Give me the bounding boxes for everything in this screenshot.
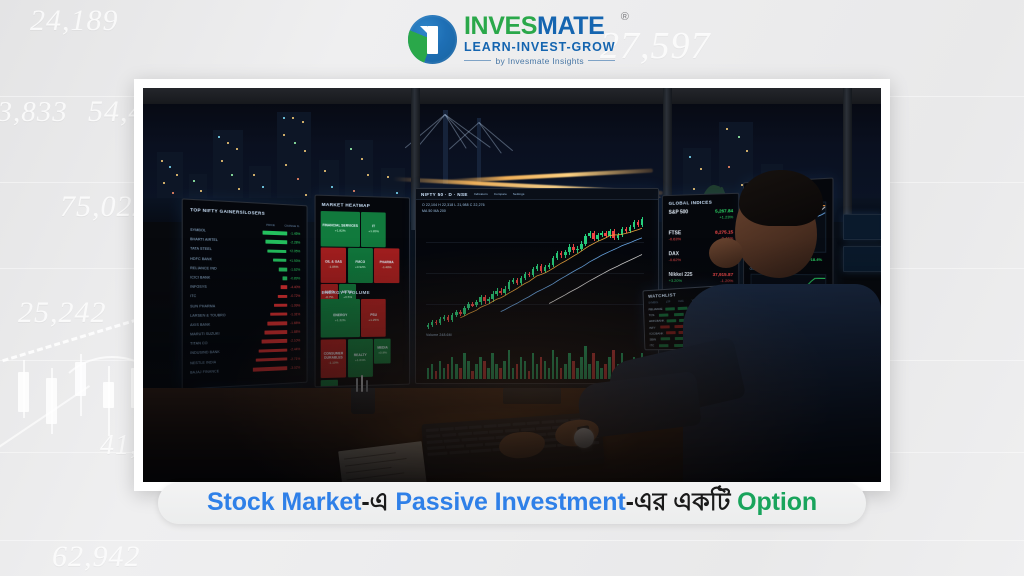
gainers-change-pct: -0.72% xyxy=(290,294,300,298)
caption-banner: Stock Market-এ Passive Investment-এর একট… xyxy=(158,482,866,524)
heatmap-grid-energy[interactable]: ENERGY+1.32%PSU+1.25%CONSUMER DURABLES-1… xyxy=(321,299,405,380)
gainers-symbol: ITC xyxy=(190,294,196,298)
logo-rule-left xyxy=(464,60,491,61)
volume-bar xyxy=(495,364,498,379)
gainers-change-pct: -2.10% xyxy=(290,339,300,343)
heatmap-tile-value: +0.8% xyxy=(378,351,387,355)
global-index-change: -1.20% xyxy=(720,278,733,283)
bridge-cable xyxy=(445,114,478,148)
chart-toolbar-settings[interactable]: Settings xyxy=(513,192,525,196)
volume-bar xyxy=(471,371,474,379)
gainers-change-bar xyxy=(256,357,287,362)
heatmap-tile[interactable]: FINANCIAL SERVICES+1.82% xyxy=(321,211,360,247)
watchlist-value-cell xyxy=(667,319,677,322)
heatmap-tile[interactable]: FMCG+0.92% xyxy=(348,248,373,283)
gainers-symbol: ICICI BANK xyxy=(190,275,210,279)
volume-bar xyxy=(564,364,567,379)
gainers-symbol: HDFC BANK xyxy=(190,256,212,261)
gainers-symbol: RELIANCE IND xyxy=(190,266,217,271)
gainers-change-pct: -3.02% xyxy=(290,365,300,369)
watchlist-value-cell xyxy=(665,307,675,310)
gainers-symbol: BHARTI AIRTEL xyxy=(190,237,218,242)
volume-bar xyxy=(572,361,575,379)
heatmap-tile-value: -1.40% xyxy=(382,265,392,269)
global-index-row[interactable]: Nikkei 22537,915.87+3.20%-1.20% xyxy=(669,272,734,283)
monitor-top-gainers-losers[interactable]: TOP NIFTY GAINERS/LOSERS PRICE CHANGE % … xyxy=(182,198,308,389)
watermark-gridline xyxy=(0,540,1024,541)
volume-bar xyxy=(524,361,527,379)
volume-bar xyxy=(491,353,494,379)
volume-bar xyxy=(503,361,506,379)
desk-speaker-device xyxy=(503,388,561,404)
gainers-change-bar xyxy=(274,303,287,307)
gainers-row[interactable]: HDFC BANK+1.93% xyxy=(190,256,300,262)
volume-bar xyxy=(584,346,587,379)
registered-mark-icon: ® xyxy=(621,12,629,23)
global-index-side-change: -0.63% xyxy=(669,236,681,241)
heatmap-tile[interactable]: PSU+1.25% xyxy=(361,299,386,337)
volume-bar xyxy=(516,364,519,379)
chart-gridline xyxy=(426,304,644,305)
gainers-change-pct: -2.71% xyxy=(290,357,300,361)
logo-rule-right xyxy=(588,60,615,61)
gainers-change-bar xyxy=(273,258,286,262)
bridge-tower xyxy=(443,110,448,184)
watermark-trend-line xyxy=(0,385,90,454)
gainers-change-pct: +1.93% xyxy=(289,259,300,263)
watermark-candle xyxy=(103,382,114,408)
watchlist-value-cell xyxy=(666,331,676,334)
heatmap-tile-value: +1.82% xyxy=(335,229,346,233)
volume-bar xyxy=(592,353,595,379)
global-index-name: S&P 500 xyxy=(669,209,688,215)
volume-bar xyxy=(487,368,490,379)
panel-title-gainers: TOP NIFTY GAINERS/LOSERS xyxy=(190,207,265,216)
gainers-symbol: MARUTI SUZUKI xyxy=(190,332,219,337)
volume-bar xyxy=(459,368,462,379)
gainers-change-pct: -1.62% xyxy=(290,267,300,271)
volume-bar xyxy=(475,364,478,379)
volume-bar xyxy=(536,364,539,379)
volume-bar xyxy=(556,357,559,379)
logo-wordmark: INVESMATE ® LEARN-INVEST-GROW by Invesma… xyxy=(464,14,627,65)
pen xyxy=(356,378,358,392)
gainers-change-pct: -2.28% xyxy=(290,241,300,245)
volume-bar xyxy=(532,353,535,379)
chart-toolbar-indicators[interactable]: Indicators xyxy=(474,192,488,196)
volume-bar xyxy=(435,371,438,379)
chart-volume-label: Volume 248.6M xyxy=(426,333,452,337)
watchlist-value-cell xyxy=(659,313,668,316)
gainers-symbol: TITAN CO xyxy=(190,341,208,346)
heatmap-grid-sectors[interactable]: FINANCIAL SERVICES+1.82%IT+1.20%OIL & GA… xyxy=(321,211,405,284)
gainers-change-bar xyxy=(279,267,287,271)
watchlist-value-cell xyxy=(660,325,670,328)
gainers-row[interactable]: BHARTI AIRTEL-2.28% xyxy=(190,237,300,245)
watermark-number: 73,833 xyxy=(0,96,68,129)
heatmap-tile-value: +1.01% xyxy=(355,358,366,362)
gainers-change-pct: -0.89% xyxy=(290,276,300,280)
monitor-price-chart[interactable]: NIFTY 50 · D · NSE Indicators Compare Se… xyxy=(415,188,659,384)
gainers-change-bar xyxy=(259,348,288,353)
gainers-row[interactable]: SUN PHARMA-1.09% xyxy=(190,303,300,308)
volume-bar xyxy=(451,357,454,379)
gainers-row[interactable]: INFOSYS-4.40% xyxy=(190,285,300,289)
bridge-tower xyxy=(477,118,481,184)
heatmap-tile[interactable]: MEDIA+0.8% xyxy=(374,338,391,363)
heatmap-tile-value: -1.10% xyxy=(329,360,339,364)
gainers-row-list: SYMBOL-1.45%BHARTI AIRTEL-2.28%TATA STEE… xyxy=(190,228,300,380)
gainers-row[interactable]: BAJAJ FINANCE-3.02% xyxy=(190,365,300,374)
volume-bar xyxy=(540,357,543,379)
caption-segment-1: Stock Market xyxy=(207,488,361,516)
watermark-candle xyxy=(18,372,29,412)
gainers-row[interactable]: LARSEN & TOUBRO-1.31% xyxy=(190,312,300,317)
gainers-row[interactable]: ITC-0.72% xyxy=(190,294,300,298)
volume-bar xyxy=(604,364,607,379)
watermark-number: 24,189 xyxy=(30,4,119,38)
heatmap-tile[interactable]: OIL & GAS-1.05% xyxy=(321,247,347,282)
watermark-number: 25,242 xyxy=(18,296,107,330)
chart-gridline xyxy=(426,273,644,274)
gainers-change-bar xyxy=(266,240,288,244)
caption-text: Stock Market-এ Passive Investment-এর একট… xyxy=(207,482,817,525)
volume-bar xyxy=(463,353,466,379)
watchlist-value-cell xyxy=(661,338,671,341)
watchlist-col-header: CHG xyxy=(678,300,684,303)
gainers-change-bar xyxy=(281,286,288,290)
heatmap-tile-value: +1.20% xyxy=(368,229,378,233)
volume-bar xyxy=(552,350,555,379)
watchlist-col-header: LTP xyxy=(666,301,670,304)
gainers-change-pct: +2.05% xyxy=(289,250,300,254)
gainers-row[interactable]: ICICI BANK-0.89% xyxy=(190,275,300,280)
heatmap-tile-value: +1.25% xyxy=(368,318,378,322)
watermark-candle-wick xyxy=(108,366,110,436)
watermark-number: 62,942 xyxy=(52,540,141,574)
logo-title-part1: INVES xyxy=(464,12,537,40)
gainers-change-bar xyxy=(270,312,287,316)
col-header-price: PRICE xyxy=(266,223,275,227)
chart-ma-legend: MA 50 MA 200 xyxy=(422,209,446,213)
heatmap-tile[interactable]: IT+1.20% xyxy=(361,212,386,247)
watchlist-symbol: INFY xyxy=(649,325,655,329)
highway-light-trail xyxy=(443,169,653,184)
gainers-change-pct: -1.45% xyxy=(290,232,300,236)
chart-gridline xyxy=(426,242,644,243)
logo-byline: by Invesmate Insights xyxy=(495,57,584,66)
global-index-side-change: +3.20% xyxy=(669,278,682,283)
gainers-symbol: SYMBOL xyxy=(190,228,206,233)
gainers-row[interactable]: SYMBOL-1.45% xyxy=(190,228,300,236)
volume-bar xyxy=(548,368,551,379)
watchlist-symbol: SBIN xyxy=(650,337,657,341)
volume-bar xyxy=(596,361,599,379)
gainers-change-bar xyxy=(283,277,288,281)
gainers-change-pct: -1.09% xyxy=(290,303,300,307)
volume-bar xyxy=(439,361,442,379)
heatmap-tile-value: +0.92% xyxy=(355,265,366,269)
logo-pillar-shape xyxy=(427,26,438,54)
watchlist-symbol: LT xyxy=(650,350,653,351)
watchlist-col-header: SYMBOL xyxy=(648,301,658,304)
pen-holder xyxy=(351,388,375,414)
watermark-candle xyxy=(46,378,57,424)
global-index-value: 37,915.87 xyxy=(713,272,734,277)
volume-bar xyxy=(576,368,579,379)
volume-bar xyxy=(580,357,583,379)
volume-bar xyxy=(483,361,486,379)
gainers-change-pct: -1.88% xyxy=(290,330,300,334)
hero-photo: TOP NIFTY GAINERS/LOSERS PRICE CHANGE % … xyxy=(143,88,881,482)
watermark-candle-wick xyxy=(80,354,82,416)
pen xyxy=(366,380,368,392)
volume-bar xyxy=(528,371,531,379)
heatmap-tile[interactable]: CONSUMER DURABLES-1.10% xyxy=(321,339,347,378)
heatmap-tile-value: -1.05% xyxy=(329,265,339,269)
watchlist-symbol: RELIANCE xyxy=(649,307,663,312)
watermark-trend-dashed xyxy=(0,318,138,365)
gainers-change-bar xyxy=(262,339,288,343)
volume-bar xyxy=(520,357,523,379)
volume-bar xyxy=(427,368,430,379)
panel-title-energy-volume: ENERGY / VOLUME xyxy=(322,290,370,295)
gainers-row[interactable]: MARUTI SUZUKI-1.88% xyxy=(190,330,300,337)
logo-title: INVESMATE ® xyxy=(464,14,615,39)
gainers-change-bar xyxy=(265,330,288,334)
brand-logo[interactable]: INVESMATE ® LEARN-INVEST-GROW by Invesma… xyxy=(408,14,627,65)
global-index-value: 5,267.84 xyxy=(715,208,733,213)
background-monitor xyxy=(843,214,881,240)
watchlist-symbol: TCS xyxy=(649,313,655,317)
logo-byline-row: by Invesmate Insights xyxy=(464,57,615,66)
monitor-market-heatmap[interactable]: MARKET HEATMAP FINANCIAL SERVICES+1.82%I… xyxy=(315,195,410,388)
gainers-symbol: TATA STEEL xyxy=(190,247,212,252)
volume-bar xyxy=(499,368,502,379)
volume-bar xyxy=(588,364,591,379)
hero-photo-card: TOP NIFTY GAINERS/LOSERS PRICE CHANGE % … xyxy=(134,79,890,491)
chart-ticker-label[interactable]: NIFTY 50 · D · NSE xyxy=(421,192,468,197)
person-jaw xyxy=(709,238,743,268)
gainers-row[interactable]: NESTLE INDIA-2.71% xyxy=(190,357,300,365)
global-index-side-change: -0.62% xyxy=(669,257,681,262)
gainers-change-bar xyxy=(268,249,287,253)
gainers-change-bar xyxy=(278,295,287,299)
chart-toolbar-compare[interactable]: Compare xyxy=(494,192,507,196)
bridge-cable xyxy=(416,114,445,148)
panel-title-heatmap: MARKET HEATMAP xyxy=(322,202,370,208)
gainers-symbol: SUN PHARMA xyxy=(190,304,215,308)
gainers-change-pct: -4.40% xyxy=(290,285,300,289)
gainers-change-pct: -1.31% xyxy=(290,312,300,316)
gainers-row[interactable]: TITAN CO-2.10% xyxy=(190,339,300,346)
chart-ohlc-legend: O 22,104 H 22,318 L 21,988 C 22,276 xyxy=(422,203,485,207)
watchlist-symbol: ICICIBANK xyxy=(649,331,663,335)
ceiling-beam xyxy=(143,88,881,104)
person-hair xyxy=(739,170,823,226)
gainers-change-pct: -1.65% xyxy=(290,321,300,325)
volume-bar xyxy=(479,357,482,379)
logo-monument-icon xyxy=(408,15,457,64)
global-index-row[interactable]: S&P 5005,267.84+1.23% xyxy=(669,208,734,221)
gainers-row[interactable]: AXIS BANK-1.65% xyxy=(190,321,300,327)
gainers-change-bar xyxy=(253,366,287,371)
volume-bar xyxy=(544,361,547,379)
gainers-change-bar xyxy=(268,321,288,325)
gainers-change-pct: -2.44% xyxy=(290,348,300,352)
logo-title-part2: MATE xyxy=(537,12,604,40)
volume-bar xyxy=(600,368,603,379)
panel-title-global-indices: GLOBAL INDICES xyxy=(669,200,712,206)
heatmap-tile[interactable]: ENERGY+1.32% xyxy=(321,299,360,338)
gainers-symbol: BAJAJ FINANCE xyxy=(190,369,219,374)
volume-bar xyxy=(443,368,446,379)
global-index-value: 8,275.15 xyxy=(715,229,733,234)
gainers-row[interactable]: TATA STEEL+2.05% xyxy=(190,247,300,254)
volume-bar xyxy=(568,353,571,379)
volume-bar xyxy=(512,368,515,379)
pen xyxy=(361,375,363,392)
caption-segment-5: Option xyxy=(737,488,817,516)
heatmap-tile-value: +1.32% xyxy=(335,318,346,322)
gainers-row[interactable]: RELIANCE IND-1.62% xyxy=(190,266,300,272)
watermark-candle-wick xyxy=(51,368,53,434)
volume-bar xyxy=(455,364,458,379)
gainers-symbol: INFOSYS xyxy=(190,285,207,289)
heatmap-tile[interactable]: BANK+0.4% xyxy=(321,379,338,387)
watermark-candle xyxy=(75,362,86,396)
panel-title-watchlist: WATCHLIST xyxy=(648,292,676,299)
gainers-row[interactable]: INDUSIND BANK-2.44% xyxy=(190,348,300,356)
candlestick-plot[interactable] xyxy=(426,217,644,329)
background-monitor xyxy=(843,246,881,272)
watchlist-symbol: ITC xyxy=(650,343,655,347)
gainers-symbol: AXIS BANK xyxy=(190,322,210,326)
volume-bar xyxy=(431,364,434,379)
caption-segment-2: -এ xyxy=(361,488,395,516)
heatmap-tile[interactable]: REALTY+1.01% xyxy=(348,339,373,378)
col-header-change: CHANGE % xyxy=(284,224,299,229)
global-index-change: +1.23% xyxy=(719,214,733,219)
volume-bar xyxy=(467,361,470,379)
caption-segment-3: Passive Investment xyxy=(395,488,625,516)
heatmap-tile[interactable]: PHARMA-1.40% xyxy=(374,248,399,282)
gainers-symbol: NESTLE INDIA xyxy=(190,360,216,365)
volume-bar xyxy=(508,350,511,379)
gainers-change-bar xyxy=(263,231,288,235)
logo-tagline: LEARN-INVEST-GROW xyxy=(464,41,615,54)
gainers-symbol: INDUSIND BANK xyxy=(190,350,220,355)
watchlist-value-cell xyxy=(674,313,684,316)
volume-bar xyxy=(560,368,563,379)
caption-segment-4: -এর একটি xyxy=(626,488,737,516)
watchlist-symbol: HDFCBANK xyxy=(649,319,664,323)
volume-bar xyxy=(447,364,450,379)
gainers-symbol: LARSEN & TOUBRO xyxy=(190,313,226,318)
watermark-candle-wick xyxy=(23,360,25,418)
watchlist-value-cell xyxy=(659,344,669,347)
